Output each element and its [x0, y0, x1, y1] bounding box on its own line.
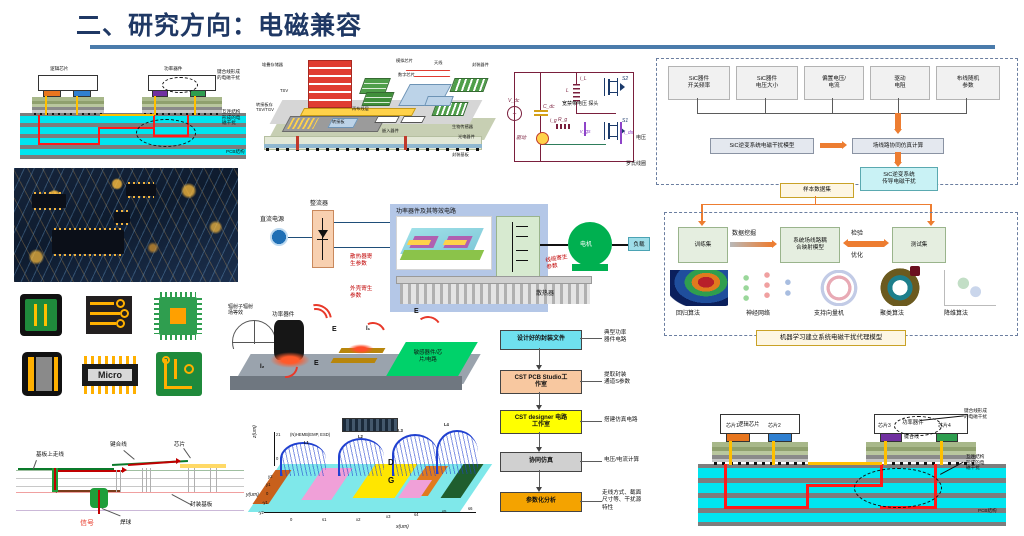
field-label-E: E: [314, 360, 319, 367]
pin-label-G: G: [388, 476, 394, 485]
interconnect-trace: [724, 506, 808, 509]
cst-note-parametric: 走线方式、截面 尺寸等、干扰源 特性: [602, 490, 641, 512]
mapping-model-box: 系统场线路耦 合映射模型: [780, 227, 840, 263]
cosim-to-result-arrow: [895, 152, 901, 162]
sample-dataset-box: 样本数据集: [780, 183, 854, 198]
cable-parasitic-label: 线缆寄生 参数: [545, 254, 569, 271]
input-box-switching-frequency: SiC器件 开关频率: [668, 66, 730, 100]
algorithm-label-neural-network: 神经网络: [746, 308, 770, 317]
input-drop: [697, 98, 698, 113]
plot-top-label: (N)HEMB(EMP, ESD): [290, 432, 330, 437]
embedded-device: [400, 116, 426, 123]
power-system-diagram: 直流电源 整流器 功率器件及其等效电路 散热器 电机: [250, 192, 650, 320]
die-label: 芯片: [174, 440, 185, 448]
cst-note-leader: [580, 381, 602, 382]
bondwire-emi-note: 键合线形成 的电磁干扰: [217, 69, 240, 80]
aggressor-trace: [331, 358, 378, 363]
circuit-schematic: + V_dc C_dc L i_L S2: [500, 56, 652, 176]
chip-icon-grid: Micro: [14, 290, 228, 406]
cst-workflow: 设计好的封装文件 CST PCB Studio工 作室 CST designer…: [496, 326, 686, 526]
algorithm-label-dimension-reduction: 降维算法: [944, 308, 968, 317]
x-tick: 0: [290, 517, 292, 522]
rogowski-label: 罗氏线圈: [626, 160, 646, 167]
driver-symbol: [536, 132, 549, 145]
train-set-box: 训练集: [678, 227, 728, 263]
bondwire-arrow: [128, 460, 180, 466]
current-label-I2: I₂: [260, 364, 264, 370]
x-tick: x3: [386, 514, 390, 519]
power-device-label: 功率器件: [164, 66, 182, 72]
input-drop: [898, 98, 899, 113]
dc-source-icon: [270, 228, 288, 246]
pcb-green-board-icon: [156, 352, 202, 396]
return-arrow: [58, 490, 120, 492]
field-label-E: E: [332, 326, 337, 333]
cst-step-cosimulation: 协同仿真: [500, 452, 582, 472]
interconnect-emi-highlight: [854, 468, 942, 508]
die-3-label: 芯片3: [878, 422, 891, 429]
bondwire-emi-highlight: [162, 77, 198, 93]
regression-thumbnail: [670, 270, 728, 306]
cst-note-leader: [580, 461, 602, 462]
input-drop: [765, 98, 766, 113]
z-tick: 0: [276, 456, 278, 461]
interconnect-trace: [38, 143, 100, 145]
digital-chip: [361, 92, 394, 106]
input-box-routing-params: 布线随机 参数: [936, 66, 1000, 100]
mosfet-s1: [604, 122, 618, 140]
pcb-stack: [20, 113, 246, 159]
cst-step-package-file: 设计好的封装文件: [500, 330, 582, 350]
cdc-label: C_dc: [543, 104, 555, 110]
aggressor-hotspot: [348, 344, 374, 354]
die-4-label: 芯片4: [938, 422, 951, 429]
cst-note-designer: 搭建仿真电路: [604, 417, 638, 424]
pcb-photo-ic: [126, 184, 156, 196]
logic-chip-module: 逻辑芯片 芯片1 芯片2: [712, 414, 808, 464]
cst-step-pcb-studio: CST PCB Studio工 作室: [500, 370, 582, 394]
package-cross-section-top-left: 逻辑芯片 功率器件 芯片1 键合线形成 的电磁干扰 互连结构 形成的电 磁干扰 …: [14, 57, 252, 163]
field-label-E: E: [414, 308, 419, 315]
z-tick: z1: [276, 432, 280, 437]
bondwire-arrow: [56, 470, 124, 472]
interconnect-trace: [806, 484, 809, 509]
cst-note-leader: [580, 501, 602, 502]
memory-stack: [308, 60, 352, 108]
cst-step-parametric: 参数化分析: [500, 492, 582, 512]
interconnect-trace: [38, 115, 40, 145]
die-block: [180, 464, 226, 468]
bondwire-inline-label: 键合线: [904, 433, 919, 440]
hi-label-optoelectronic: 光电器件: [458, 134, 475, 139]
hi-label-rdl: 再布线层: [352, 106, 369, 111]
hi-label-interposer-tsv: 转接板存 TSV/TGV: [256, 102, 274, 112]
y-axis-label: y(um): [246, 492, 259, 498]
power-device-module: 功率器件 芯片3 芯片4 键合线: [866, 414, 976, 464]
heatsink-fins: [400, 284, 590, 304]
interconnect-emi-highlight: [136, 119, 196, 147]
emi-model-box: SiC逆变系统电磁干扰模型: [710, 138, 814, 154]
y-tick: -y2: [258, 510, 264, 515]
cst-note-pcb-studio: 提取封装 通道S参数: [604, 372, 630, 387]
hi-label-substrate: 封装基板: [452, 152, 469, 157]
interconnect-trace: [724, 464, 727, 508]
cst-note-package-file: 典型功率 器件电路: [604, 330, 626, 345]
dip-chip-icon: [22, 352, 62, 396]
x-tick: x2: [356, 517, 360, 522]
solder-ball-label: 焊球: [120, 518, 131, 526]
substrate-trace-diagram: 基板上走线 键合线 芯片 封装基板 信号 焊球: [12, 424, 248, 534]
heatsink-label: 散热器: [536, 288, 554, 297]
dc-source-symbol: +: [507, 106, 522, 121]
s2-label: S2: [622, 76, 628, 82]
die-4: [190, 90, 206, 97]
pcb-structure-note: PCB结构: [978, 508, 997, 514]
pcb-trace-icon: [86, 296, 132, 334]
logic-chip-module: [32, 75, 104, 115]
heatsink-parasitic-label: 散热器寄 生参数: [350, 254, 372, 267]
dimension-reduction-thumbnail: [944, 270, 996, 306]
power-device-label: 功率器件: [272, 310, 294, 318]
hi-label-package: 封装器件: [472, 62, 489, 67]
cst-connector: [539, 432, 540, 447]
hi-label-embedded: 嵌入器件: [382, 128, 399, 133]
input-bus-horizontal: [697, 113, 967, 114]
page-title: 二、研究方向：电磁兼容: [76, 6, 362, 42]
wire-bundle-L4: [436, 430, 478, 474]
die-1-label: 芯片1: [726, 422, 739, 429]
qfp-green-chip-icon: [20, 294, 62, 336]
input-box-bias: 偏置电压/ 电流: [804, 66, 864, 100]
plot-inset-photo: [342, 418, 398, 432]
pcb-photo-ic: [114, 212, 130, 223]
rg-label: R_g: [558, 117, 567, 123]
logic-chip-label: 逻辑芯片: [50, 66, 68, 72]
ig-label: i_g: [550, 118, 557, 124]
cst-note-leader: [580, 338, 602, 339]
il-label: i_L: [580, 76, 587, 82]
enclosure-parasitic-label: 外壳寄生 参数: [350, 286, 372, 299]
micro-chip-icon: Micro: [82, 356, 138, 394]
hi-label-analog: 模拟芯片: [396, 58, 413, 63]
bus-to-cosim-arrow-head: [894, 129, 902, 134]
ml-caption-box: 机器学习建立系统电磁干扰代理模型: [756, 330, 906, 346]
cst-connector: [539, 392, 540, 405]
wire-bundle-L2: [338, 438, 384, 476]
interconnect-emi-note: 互连结构 形成的电 磁干扰: [222, 109, 240, 126]
optimize-label: 优化: [851, 250, 863, 259]
package-substrate-label: 封装基板: [190, 500, 212, 508]
y-tick: 0: [266, 491, 268, 496]
wire-bundle-L3: [392, 434, 438, 476]
wire-group-label-L3: L3: [398, 428, 403, 433]
micro-chip-label: Micro: [88, 369, 132, 381]
hi-label-tsv: TSV: [280, 88, 288, 93]
power-device-module: [142, 75, 222, 115]
substrate-trace-label: 基板上走线: [36, 450, 64, 458]
signal-label: 信号: [80, 518, 94, 528]
bondwire-3d-plot: z(um) y(um) x(um) (N)HEMB(EMP, ESD) L1 L…: [246, 418, 494, 536]
cst-note-leader: [580, 421, 602, 422]
z-axis-label: z(um): [252, 425, 258, 438]
clustering-outlier: [910, 266, 920, 276]
pcb-yellow-trace: [100, 114, 154, 116]
rectifier-label: 整流器: [310, 198, 328, 207]
interconnect-emi-note: 互连结构 形成的电 磁干扰: [966, 454, 984, 471]
wire-group-label-L2: L2: [358, 434, 363, 439]
load-box: 负载: [628, 237, 650, 251]
data-mining-arrow-head: [772, 240, 777, 248]
mosfet-s2: [604, 78, 618, 96]
slide-canvas: 二、研究方向：电磁兼容: [0, 0, 1024, 536]
x-tick: s6: [468, 506, 472, 511]
bus-to-cosim-arrow: [895, 113, 901, 129]
x-tick: s5: [442, 509, 446, 514]
biosensor-device: [424, 96, 454, 106]
wire-group-label-L1: L1: [304, 440, 309, 445]
data-mining-arrow: [730, 242, 772, 247]
y-tick: y1: [266, 482, 270, 487]
neural-network-thumbnail: [738, 270, 796, 306]
gate-resistor: [556, 124, 570, 129]
verify-arrow-head-right: [884, 239, 889, 247]
package-cross-section-bottom-right: 逻辑芯片 芯片1 芯片2 功率器件 芯片3 芯片4 键合线: [690, 396, 1016, 530]
title-underline: [90, 45, 995, 49]
test-set-box: 测试集: [892, 227, 946, 263]
model-to-cosim-arrow-head: [842, 141, 847, 149]
dataset-connector: [815, 196, 816, 204]
pcb-photo-ic: [52, 230, 124, 254]
algorithm-label-clustering: 聚类算法: [880, 308, 904, 317]
verify-optimize-arrow: [848, 241, 884, 247]
input-box-gate-resistance: 驱动 电阻: [870, 66, 930, 100]
y-tick: y2: [268, 474, 272, 479]
ids-label: i_ds: [624, 130, 633, 136]
cst-connector: [539, 348, 540, 365]
input-drop: [832, 98, 833, 113]
interconnect-trace: [98, 127, 100, 145]
verify-label: 检验: [851, 228, 863, 237]
power-module-title: 功率器件及其等效电路: [396, 206, 456, 215]
x-axis-label: x(um): [396, 524, 409, 530]
bondwire-emi-note: 键合线形成 的电磁干扰: [964, 408, 987, 419]
radiation-sphere-label: 辐射子辐射 场等效: [228, 304, 253, 316]
motor-label: 电机: [580, 239, 592, 248]
vdc-label: V_dc: [508, 98, 519, 104]
input-drop: [966, 98, 967, 113]
x-tick: s1: [322, 517, 326, 522]
pcb-photo-ic: [32, 194, 66, 208]
heterogeneous-integration-diagram: 堆叠存储器 模拟芯片 数字芯片 天线 封装器件 TSV 转接板存 TSV/TGV…: [256, 56, 504, 168]
current-label-I1: I₁: [366, 326, 370, 332]
svm-thumbnail: [812, 270, 866, 306]
wire-bundle-L1: [280, 442, 326, 476]
driver-label: 驱动: [516, 134, 526, 141]
hi-label-biosensor: 生物传感器: [452, 124, 473, 129]
emi-radiation-diagram: 辐射子辐射 场等效 功率器件 敏感器件/芯 片/电路 E E E I₁ I₂: [228, 302, 492, 412]
embedded-device: [374, 116, 400, 123]
cst-note-cosimulation: 电压/电流计算: [604, 457, 639, 464]
packaged-device: [449, 78, 488, 92]
emi-board-side: [230, 376, 462, 390]
s1-label: S1: [622, 118, 628, 124]
probe-label: 宽禁带电压 探头: [562, 100, 598, 107]
logic-chip-label: 逻辑芯片: [738, 420, 760, 428]
hi-label-memory: 堆叠存储器: [262, 62, 283, 67]
x-tick: s4: [414, 512, 418, 517]
bondwire-label: 键合线: [110, 440, 127, 448]
voltage-label: 电压: [636, 134, 646, 141]
algorithm-label-svm: 支持向量机: [814, 308, 844, 317]
algorithm-label-regression: 回归算法: [676, 308, 700, 317]
wire-group-label-L4: L4: [444, 422, 449, 427]
data-mining-label: 数据挖掘: [732, 228, 756, 237]
dc-source-label: 直流电源: [260, 214, 284, 223]
inductor-label: L: [566, 88, 569, 94]
model-to-cosim-arrow: [820, 143, 842, 148]
verify-arrow-head-left: [843, 239, 848, 247]
pcb-stack: [698, 464, 1006, 526]
heatsink-plate: [396, 276, 592, 284]
pin-label-D: D: [388, 458, 394, 467]
bga-green-chip-icon: [154, 292, 202, 340]
input-box-voltage-level: SiC器件 电压大小: [736, 66, 798, 100]
pcb-photograph: [14, 168, 238, 282]
hi-label-antenna: 天线: [434, 60, 442, 65]
die-2-label: 芯片2: [768, 422, 781, 429]
cst-connector: [539, 470, 540, 487]
pcb-structure-note: PCB结构: [226, 149, 245, 155]
hi-label-digital: 数字芯片: [398, 72, 415, 77]
dataset-branch-bus: [701, 204, 931, 205]
y-tick: -y1: [262, 500, 268, 505]
cst-step-designer: CST designer 电路 工作室: [500, 410, 582, 434]
hi-label-interposer: 转接板: [332, 119, 345, 124]
victim-label: 敏感器件/芯 片/电路: [396, 350, 460, 364]
pcb-yellow-trace: [808, 462, 882, 465]
conducted-emi-result-box: SiC逆变系统 传导电磁干扰: [860, 167, 938, 191]
